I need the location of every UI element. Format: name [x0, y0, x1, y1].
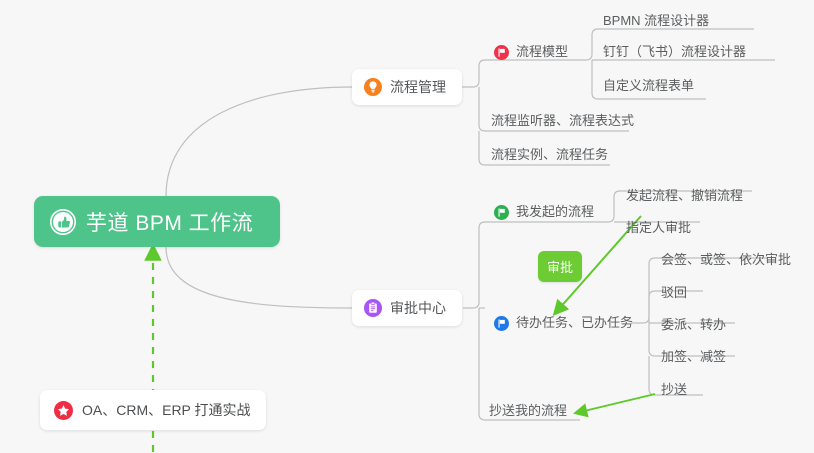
clipboard-icon: [364, 299, 382, 317]
flag-icon: [494, 205, 509, 220]
flag-icon: [494, 316, 509, 331]
leaf-process-model[interactable]: 流程模型: [494, 44, 568, 60]
mindmap-canvas: 芋道 BPM 工作流 流程管理 审批中心: [0, 0, 814, 453]
leaf-dingtalk-designer[interactable]: 钉钉（飞书）流程设计器: [603, 44, 746, 60]
branch-node-process-management[interactable]: 流程管理: [352, 69, 462, 105]
leaf-assignee-approval[interactable]: 指定人审批: [626, 220, 691, 236]
branch-node-approval-center[interactable]: 审批中心: [352, 290, 462, 326]
branch-label-approval-center: 审批中心: [390, 298, 446, 318]
leaf-label: 我发起的流程: [516, 204, 594, 220]
flag-icon: [494, 45, 509, 60]
leaf-process-instance[interactable]: 流程实例、流程任务: [491, 147, 608, 163]
leaf-bpmn-designer[interactable]: BPMN 流程设计器: [603, 13, 709, 29]
leaf-add-remove-sign[interactable]: 加签、减签: [661, 349, 726, 365]
leaf-process-listener[interactable]: 流程监听器、流程表达式: [491, 113, 634, 129]
lightbulb-icon: [364, 78, 382, 96]
approve-badge[interactable]: 审批: [538, 251, 582, 282]
integration-note-node[interactable]: OA、CRM、ERP 打通实战: [40, 390, 266, 430]
wire-root-to-process: [166, 87, 352, 196]
leaf-label: 流程模型: [516, 44, 568, 60]
leaf-todo-done-tasks[interactable]: 待办任务、已办任务: [494, 315, 633, 331]
root-node[interactable]: 芋道 BPM 工作流: [34, 196, 280, 247]
wire-root-to-approval: [166, 247, 352, 308]
leaf-my-initiated[interactable]: 我发起的流程: [494, 204, 594, 220]
leaf-start-cancel-process[interactable]: 发起流程、撤销流程: [626, 188, 743, 204]
flow-arrow-cc: [580, 394, 655, 412]
branch-label-process-management: 流程管理: [390, 77, 446, 97]
root-label: 芋道 BPM 工作流: [86, 207, 253, 237]
star-icon: [54, 401, 73, 420]
leaf-countersign[interactable]: 会签、或签、依次审批: [661, 252, 791, 268]
thumbs-up-icon: [50, 209, 76, 235]
integration-note-label: OA、CRM、ERP 打通实战: [82, 400, 251, 420]
leaf-cc-to-me[interactable]: 抄送我的流程: [489, 403, 567, 419]
leaf-carbon-copy[interactable]: 抄送: [661, 382, 687, 398]
leaf-delegate-transfer[interactable]: 委派、转办: [661, 317, 726, 333]
leaf-custom-form[interactable]: 自定义流程表单: [603, 78, 694, 94]
leaf-reject[interactable]: 驳回: [661, 285, 687, 301]
leaf-label: 待办任务、已办任务: [516, 315, 633, 331]
